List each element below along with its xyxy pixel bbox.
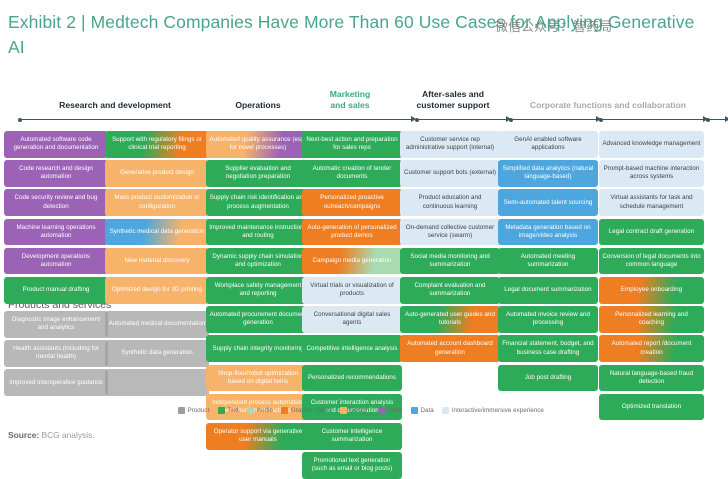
usecase-cell[interactable]: Auto-generation of personalized product … — [302, 219, 402, 246]
source-text: BCG analysis. — [42, 430, 95, 440]
usecase-cell[interactable]: Promotional text generation (such as ema… — [302, 452, 402, 479]
source-label: Source: — [8, 430, 39, 440]
usecase-cell[interactable]: Optimized translation — [599, 394, 704, 421]
legend-item: Text — [218, 407, 239, 414]
usecase-cell[interactable]: Supply chain risk identification and pro… — [206, 189, 310, 216]
legend-label: Code — [387, 407, 402, 414]
legend-item: Product — [178, 407, 209, 414]
usecase-cell[interactable]: Social media monitoring and summarizatio… — [400, 248, 500, 275]
usecase-cell[interactable]: Supply chain integrity monitoring — [206, 335, 310, 362]
usecase-cell[interactable]: Legal contract draft generation — [599, 219, 704, 246]
usecase-cell[interactable]: Automated procurement document generatio… — [206, 306, 310, 333]
legend-item: Design — [340, 407, 369, 414]
usecase-cell[interactable]: Customer support bots (external) — [400, 160, 500, 187]
usecase-cell[interactable]: Automated invoice review and processing — [498, 306, 598, 333]
legend-swatch-icon — [178, 407, 185, 414]
usecase-cell[interactable]: Customer service rep administrative supp… — [400, 131, 500, 158]
usecase-cell[interactable]: On-demand collective customer service (s… — [400, 219, 500, 246]
usecase-cell[interactable]: Development operations automation — [4, 248, 108, 275]
product-cell[interactable]: Diagnostic image enhancement and analyti… — [4, 311, 108, 338]
usecase-cell[interactable]: Semi-automated talent sourcing — [498, 189, 598, 216]
usecase-cell[interactable]: Virtual assistants for task and schedule… — [599, 189, 704, 216]
legend-item: Data — [411, 407, 434, 414]
legend-swatch-icon — [378, 407, 385, 414]
legend-swatch-icon — [281, 407, 288, 414]
usecase-cell[interactable]: Product education and continuous learnin… — [400, 189, 500, 216]
legend-label: Product — [188, 407, 210, 414]
usecase-cell[interactable]: Auto-generated user guides and tutorials — [400, 306, 500, 333]
usecase-cell[interactable]: Mass product customization or configurat… — [105, 189, 209, 216]
usecase-grid: Automated software code generation and d… — [0, 0, 728, 463]
usecase-cell[interactable]: Automated meeting summarization — [498, 248, 598, 275]
usecase-cell[interactable]: Code security review and bug detection — [4, 189, 108, 216]
usecase-cell[interactable]: Conversational digital sales agents — [302, 306, 402, 333]
usecase-cell[interactable]: Legal document summarization — [498, 277, 598, 304]
usecase-cell[interactable]: Personalized learning and coaching — [599, 306, 704, 333]
usecase-cell[interactable]: Product manual drafting — [4, 277, 108, 304]
legend-label: Audio — [257, 407, 273, 414]
legend-swatch-icon — [442, 407, 449, 414]
usecase-cell[interactable]: Prompt-based machine interaction across … — [599, 160, 704, 187]
usecase-cell[interactable]: Shop-floor/robot optimization based on d… — [206, 365, 310, 392]
usecase-cell[interactable]: Simplified data analytics (natural langu… — [498, 160, 598, 187]
legend-label: Text — [227, 407, 239, 414]
usecase-cell[interactable]: Competitive intelligence analysis — [302, 335, 402, 362]
product-cell[interactable]: Automated medical documentation — [105, 311, 209, 338]
legend-label: Graphic media — [291, 407, 332, 414]
usecase-cell[interactable]: Optimized design for 3D printing — [105, 277, 209, 304]
source-note: Source: BCG analysis. — [8, 430, 95, 440]
usecase-cell[interactable]: Workplace safety management and reportin… — [206, 277, 310, 304]
legend-label: Data — [421, 407, 434, 414]
usecase-cell[interactable]: Advanced knowledge management — [599, 131, 704, 158]
usecase-cell[interactable]: Next-best action and preparation for sal… — [302, 131, 402, 158]
usecase-cell[interactable]: Natural language-based fraud detection — [599, 365, 704, 392]
usecase-cell[interactable]: Automated software code generation and d… — [4, 131, 108, 158]
usecase-cell[interactable]: Operator support via generative user man… — [206, 423, 310, 450]
usecase-cell[interactable]: Improved maintenance instructions and ro… — [206, 219, 310, 246]
usecase-cell[interactable]: Machine learning operations automation — [4, 219, 108, 246]
usecase-cell[interactable]: Automatic creation of tender documents — [302, 160, 402, 187]
legend-item: Code — [378, 407, 403, 414]
usecase-cell[interactable]: Personalized proactive outreach/campaign… — [302, 189, 402, 216]
usecase-cell[interactable]: Supplier evaluation and negotiation prep… — [206, 160, 310, 187]
legend-label: Interactive/immersive experience — [452, 407, 544, 414]
usecase-cell[interactable]: New material discovery — [105, 248, 209, 275]
legend-swatch-icon — [247, 407, 254, 414]
usecase-cell[interactable]: Metadata generation based on image/video… — [498, 219, 598, 246]
usecase-cell[interactable]: Campaign media generation — [302, 248, 402, 275]
usecase-cell[interactable]: Code research and design automation — [4, 160, 108, 187]
usecase-cell[interactable]: Virtual trials or visualization of produ… — [302, 277, 402, 304]
usecase-cell[interactable]: Generative product design — [105, 160, 209, 187]
legend-swatch-icon — [218, 407, 225, 414]
legend-swatch-icon — [411, 407, 418, 414]
usecase-cell[interactable]: Customer intelligence summarization — [302, 423, 402, 450]
usecase-cell[interactable]: GenAI enabled software applications — [498, 131, 598, 158]
usecase-cell[interactable]: Dynamic supply chain simulation and opti… — [206, 248, 310, 275]
product-cell[interactable]: Improved interoperative guidance — [4, 369, 108, 396]
legend-label: Design — [350, 407, 370, 414]
usecase-cell[interactable]: Job post drafting — [498, 365, 598, 392]
legend: ProductTextAudioGraphic mediaDesignCodeD… — [178, 403, 598, 417]
legend-item: Interactive/immersive experience — [442, 407, 544, 414]
product-cell[interactable]: Health assistants (including for mental … — [4, 340, 108, 367]
usecase-cell[interactable]: Complaint evaluation and summarization — [400, 277, 500, 304]
product-cell[interactable] — [105, 369, 209, 396]
usecase-cell[interactable]: Employee onboarding — [599, 277, 704, 304]
usecase-cell[interactable]: Automated report /document creation — [599, 335, 704, 362]
legend-item: Audio — [247, 407, 273, 414]
usecase-cell[interactable]: Support with regulatory filings or clini… — [105, 131, 209, 158]
usecase-cell[interactable]: Conversion of legal documents into commo… — [599, 248, 704, 275]
usecase-cell[interactable]: Financial statement, budget, and busines… — [498, 335, 598, 362]
legend-swatch-icon — [340, 407, 347, 414]
usecase-cell[interactable]: Automated quality assurance (esp. for no… — [206, 131, 310, 158]
product-cell[interactable]: Synthetic data generation — [105, 340, 209, 367]
legend-item: Graphic media — [281, 407, 331, 414]
usecase-cell[interactable]: Synthetic medical data generation — [105, 219, 209, 246]
usecase-cell[interactable]: Personalized recommendations — [302, 365, 402, 392]
usecase-cell[interactable]: Automated account dashboard generation — [400, 335, 500, 362]
